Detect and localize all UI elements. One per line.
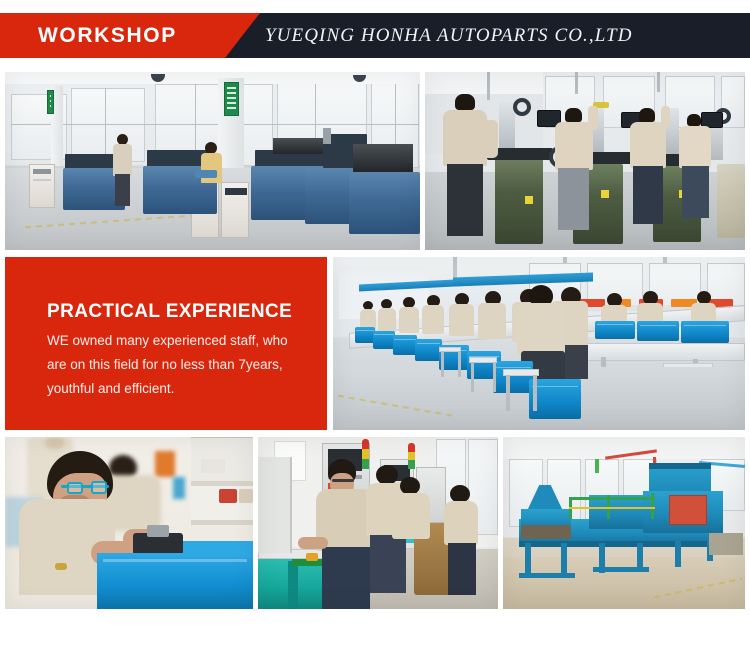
photo-assembly-line[interactable] <box>333 257 745 430</box>
page-header: WORKSHOP YUEQING HONHA AUTOPARTS CO.,LTD <box>0 13 750 58</box>
promo-title: PRACTICAL EXPERIENCE <box>47 301 292 323</box>
blue-furnace-scene <box>503 437 745 609</box>
grinding-station-scene <box>425 72 745 250</box>
company-name: YUEQING HONHA AUTOPARTS CO.,LTD <box>265 13 633 58</box>
promo-body: WE owned many experienced staff, who are… <box>47 329 302 401</box>
photo-control-panels[interactable] <box>258 437 498 609</box>
promo-line-2: are on this field for no less than 7year… <box>47 353 302 377</box>
assembly-line-scene <box>333 257 745 430</box>
inspection-closeup-scene <box>5 437 253 609</box>
control-panels-scene <box>258 437 498 609</box>
promo-line-1: WE owned many experienced staff, who <box>47 329 302 353</box>
workshop-badge-label: WORKSHOP <box>38 13 177 58</box>
photo-grinding-station[interactable] <box>425 72 745 250</box>
photo-inspection-closeup[interactable] <box>5 437 253 609</box>
practical-experience-panel: PRACTICAL EXPERIENCE WE owned many exper… <box>5 257 327 430</box>
photo-machine-shop[interactable] <box>5 72 420 250</box>
promo-line-3: youthful and efficient. <box>47 377 302 401</box>
photo-blue-furnace[interactable] <box>503 437 745 609</box>
machine-shop-scene <box>5 72 420 250</box>
